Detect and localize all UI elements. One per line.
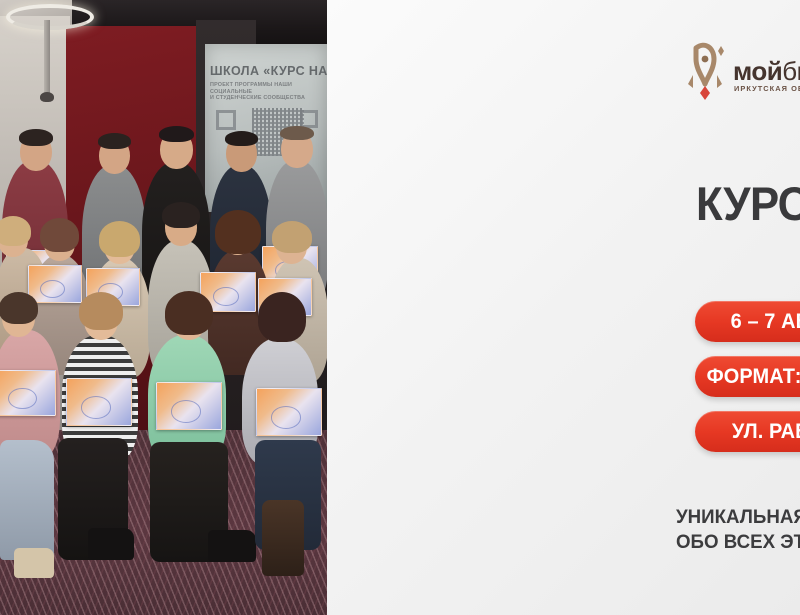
person-hair: [98, 133, 131, 149]
security-camera: [40, 92, 54, 102]
format-pill: ФОРМАТ: ОЧНО/ОНЛАЙН: [695, 356, 800, 397]
person-hair: [162, 202, 200, 228]
person-hair: [0, 216, 31, 246]
boot-light: [14, 548, 54, 578]
person-hair: [99, 221, 140, 257]
certificate: [28, 265, 82, 303]
person-hair: [272, 221, 312, 253]
pin-rocket-icon: [679, 42, 731, 100]
logo-wordmark: мойбизнес: [733, 56, 800, 87]
person-hair: [40, 218, 79, 252]
logo-word-light: бизнес: [782, 56, 800, 86]
tagline-line-2: ОБО ВСЕХ ЭТАПАХ ЗАПУСКА И ВЕДЕНИЯ БИЗНЕС…: [676, 530, 800, 555]
lamp-pole: [44, 20, 50, 98]
screen-heading: ШКОЛА «КУРС НА: [210, 64, 327, 78]
certificate: [0, 370, 56, 416]
logo-region-subtitle: ИРКУТСКАЯ ОБЛАСТЬ: [734, 84, 800, 93]
date-pill: 6 – 7 АВГУСТА 2025 Г.: [695, 301, 800, 342]
person-hair: [215, 210, 261, 254]
tagline-line-1: УНИКАЛЬНАЯ ВОЗМОЖНОСТЬ УЗНАТЬ: [676, 505, 800, 530]
format-pill-label: ФОРМАТ: ОЧНО/ОНЛАЙН: [707, 365, 800, 389]
legs-jeans: [0, 440, 54, 560]
screen-qr-marker-right: [300, 110, 318, 128]
screen-qr-marker-left: [216, 110, 236, 130]
event-title: КУРС НА РАЗВИТИЕ: [696, 178, 800, 230]
boot-brown: [262, 500, 304, 576]
certificate: [156, 382, 222, 430]
ring-lamp: [6, 4, 94, 30]
person-hair: [165, 291, 213, 335]
address-pill: УЛ. РАБОЧАЯ 2А/4: [695, 411, 800, 452]
boot-dark-1: [88, 528, 134, 560]
moy-biznes-logo: мойбизнес ИРКУТСКАЯ ОБЛАСТЬ: [679, 40, 800, 102]
screen-subtext: ПРОЕКТ ПРОГРАММЫ НАШИ СОЦИАЛЬНЫЕИ СТУДЕН…: [210, 82, 318, 102]
tagline: УНИКАЛЬНАЯ ВОЗМОЖНОСТЬ УЗНАТЬ ОБО ВСЕХ Э…: [676, 505, 800, 555]
boot-dark-2: [208, 530, 256, 562]
person-hair: [159, 126, 194, 142]
person-hair: [225, 131, 258, 146]
info-panel: мойбизнес ИРКУТСКАЯ ОБЛАСТЬ НАЦИОНАЛЬНЫЕ…: [327, 0, 800, 615]
person-hair: [258, 292, 306, 342]
certificate: [66, 378, 132, 426]
person-hair: [79, 292, 123, 330]
certificate: [256, 388, 322, 436]
group-photo: ШКОЛА «КУРС НА ПРОЕКТ ПРОГРАММЫ НАШИ СОЦ…: [0, 0, 327, 615]
logo-word-bold: мой: [733, 56, 782, 86]
date-pill-label: 6 – 7 АВГУСТА 2025 Г.: [731, 310, 800, 334]
person-hair: [19, 129, 53, 146]
person-hair: [0, 292, 38, 324]
event-poster: ШКОЛА «КУРС НА ПРОЕКТ ПРОГРАММЫ НАШИ СОЦ…: [0, 0, 800, 615]
person-hair: [280, 126, 314, 140]
address-pill-label: УЛ. РАБОЧАЯ 2А/4: [732, 420, 800, 444]
